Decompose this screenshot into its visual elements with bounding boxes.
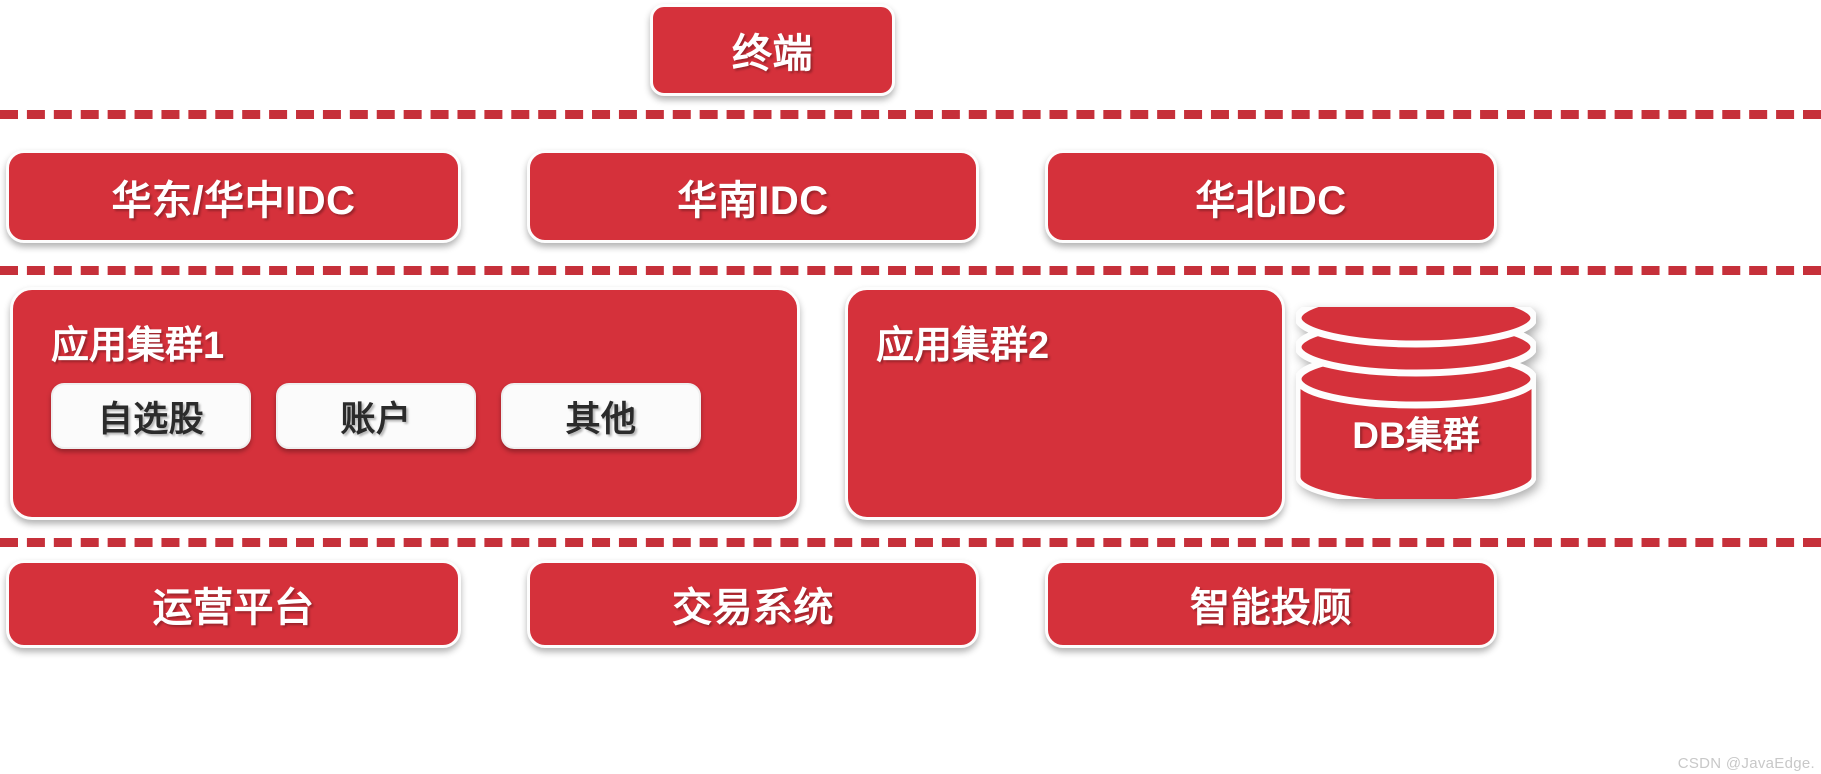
platform-label-operations: 运营平台 [153,575,315,633]
idc-box-north[interactable]: 华北IDC [1045,150,1497,243]
terminal-label: 终端 [732,21,813,79]
database-cylinder-icon[interactable] [1296,307,1536,499]
watermark-text: CSDN @JavaEdge. [1678,755,1815,772]
app-cluster-2-box[interactable]: 应用集群2 [845,287,1285,520]
divider-terminal-idc [0,110,1821,119]
module-box-other[interactable]: 其他 [501,383,701,449]
app-cluster-1-box[interactable]: 应用集群1 自选股 账户 其他 [10,287,800,520]
platform-box-robo-advisor[interactable]: 智能投顾 [1045,560,1497,648]
app-cluster-1-title: 应用集群1 [51,314,797,369]
platform-label-trading: 交易系统 [672,575,834,633]
architecture-diagram: 终端 华东/华中IDC 华南IDC 华北IDC 应用集群1 自选股 账户 其他 … [0,0,1821,774]
idc-box-south[interactable]: 华南IDC [527,150,979,243]
module-box-watchlist[interactable]: 自选股 [51,383,251,449]
idc-label-south: 华南IDC [677,168,828,226]
platform-box-trading[interactable]: 交易系统 [527,560,979,648]
idc-box-east-central[interactable]: 华东/华中IDC [6,150,461,243]
platform-box-operations[interactable]: 运营平台 [6,560,461,648]
divider-application-platform [0,538,1821,547]
app-cluster-2-title: 应用集群2 [876,314,1282,369]
idc-label-north: 华北IDC [1195,168,1346,226]
module-label-watchlist: 自选股 [98,391,205,442]
terminal-box[interactable]: 终端 [650,4,895,96]
module-box-account[interactable]: 账户 [276,383,476,449]
platform-label-robo-advisor: 智能投顾 [1190,575,1352,633]
idc-label-east-central: 华东/华中IDC [112,168,356,226]
app-cluster-1-modules: 自选股 账户 其他 [51,383,797,449]
module-label-other: 其他 [565,391,636,442]
module-label-account: 账户 [340,391,411,442]
divider-idc-application [0,266,1821,275]
